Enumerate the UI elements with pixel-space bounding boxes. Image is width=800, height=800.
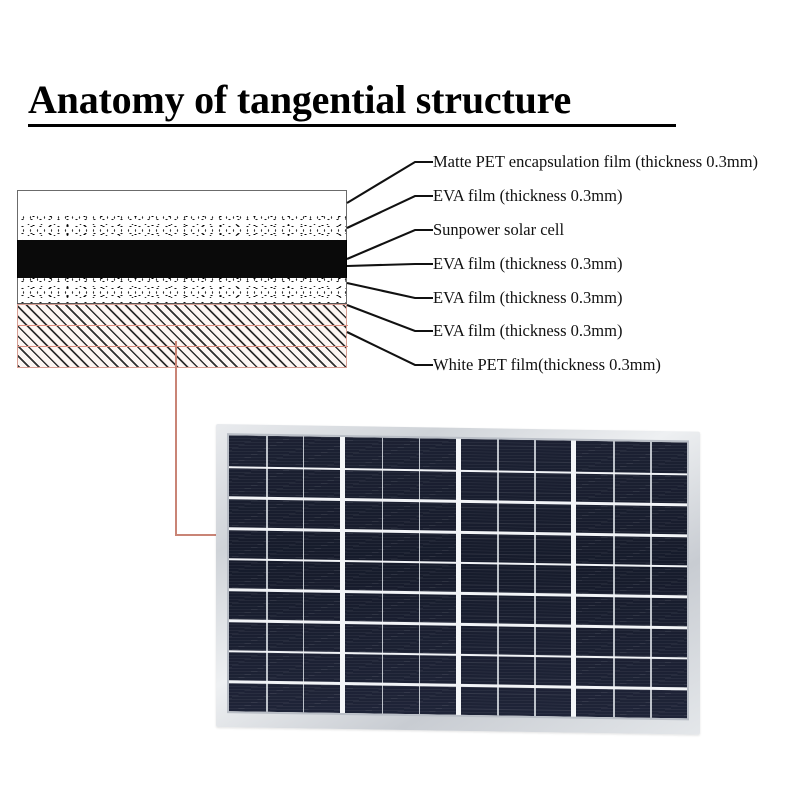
panel-cell-column [229,435,340,713]
panel-cell-busbar [534,440,536,716]
leader-line-eva-hatch-2 [347,305,433,331]
solar-panel-anatomy-page: Anatomy of tangential structure Matte PE… [0,0,800,800]
layer-eva-under-cell [17,278,347,304]
layer-solar-cell [17,240,347,278]
label-solar-cell: Sunpower solar cell [433,221,564,239]
hatch-divider-2 [18,346,348,347]
panel-cell-grid [229,435,687,718]
solar-panel-photo [216,424,700,727]
leader-line-eva-under-cell [347,264,433,266]
label-eva-under-cell: EVA film (thickness 0.3mm) [433,255,622,273]
panel-cell-column [345,437,456,715]
label-eva-top: EVA film (thickness 0.3mm) [433,187,622,205]
leader-line-solar-cell [347,230,433,259]
leader-line-eva-top [347,196,433,228]
page-title: Anatomy of tangential structure [28,78,678,122]
panel-cell-busbar [303,436,305,712]
label-eva-hatch-1: EVA film (thickness 0.3mm) [433,289,622,307]
label-white-pet: White PET film(thickness 0.3mm) [433,356,661,374]
panel-cell-busbar [613,441,615,717]
layer-eva-top [17,216,347,240]
label-eva-hatch-2: EVA film (thickness 0.3mm) [433,322,622,340]
panel-cell-column [576,441,687,719]
page-title-block: Anatomy of tangential structure [28,78,678,122]
hatch-divider-1 [18,325,348,326]
panel-cell-busbar [419,438,421,714]
panel-cell-busbar [650,442,652,718]
panel-cell-busbar [266,436,268,712]
panel-cell-busbar [382,438,384,714]
label-matte-pet: Matte PET encapsulation film (thickness … [433,153,758,171]
layered-cross-section-diagram [17,190,347,340]
leader-line-white-pet [347,332,433,365]
panel-cell-busbar [497,439,499,715]
title-underline-rule [28,124,676,127]
panel-cell-column [461,439,572,717]
leader-line-matte-pet [347,162,433,203]
layer-matte-pet [17,190,347,216]
panel-aluminium-frame [216,424,700,735]
leader-line-eva-hatch-1 [347,283,433,298]
layer-hatched-backsheet-block [17,304,347,368]
